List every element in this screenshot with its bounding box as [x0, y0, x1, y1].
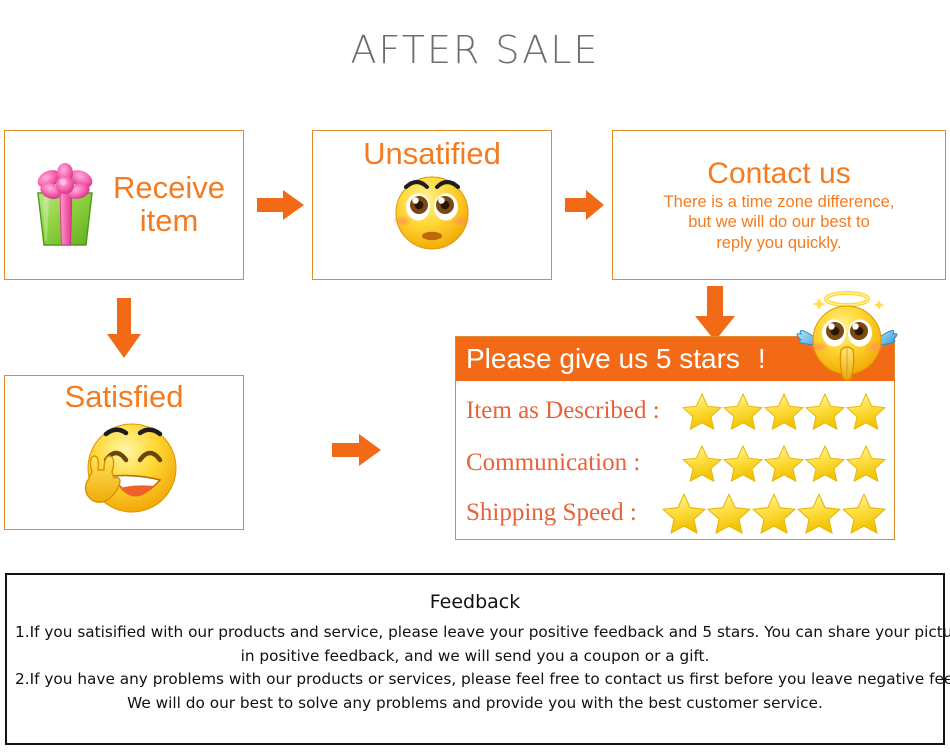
arrow-receive-to-unsatisfied — [257, 188, 305, 227]
flow-step-receive-item-label: Receive item — [113, 172, 225, 237]
flow-step-satisfied: Satisfied — [4, 375, 244, 530]
after-sale-infographic: AFTER SALE — [0, 0, 950, 754]
worried-face-emoji — [389, 167, 475, 253]
flow-step-receive-item: Receive item — [4, 130, 244, 280]
happy-face-peace-sign-emoji — [64, 414, 184, 518]
rating-row-label: Communication : — [466, 449, 640, 477]
rating-row-communication: Communication : — [466, 439, 886, 487]
feedback-line-1: 1.If you satisified with our products an… — [7, 621, 943, 645]
feedback-line-4: We will do our best to solve any problem… — [7, 692, 943, 716]
feedback-note-box: Feedback 1.If you satisified with our pr… — [5, 573, 945, 745]
arrow-satisfied-to-rating — [332, 432, 382, 473]
arrow-receive-to-satisfied — [104, 298, 144, 365]
angel-praying-emoji — [795, 288, 899, 384]
page-title: AFTER SALE — [0, 28, 950, 72]
feedback-line-2: in positive feedback, and we will send y… — [7, 645, 943, 669]
arrow-unsatisfied-to-contact — [565, 188, 605, 227]
star-rating-communication — [682, 444, 886, 482]
flow-step-contact-us: Contact us There is a time zone differen… — [612, 130, 946, 280]
rating-row-label: Shipping Speed : — [466, 499, 637, 527]
feedback-title: Feedback — [7, 591, 943, 613]
star-rating-item-as-described — [682, 392, 886, 430]
star-rating-shipping-speed — [662, 492, 886, 534]
rating-row-item-as-described: Item as Described : — [466, 387, 886, 435]
flow-step-unsatisfied: Unsatified — [312, 130, 552, 280]
rating-banner-text: Please give us 5 stars — [466, 343, 740, 375]
rating-row-label: Item as Described : — [466, 397, 660, 425]
flow-step-satisfied-label: Satisfied — [65, 380, 184, 414]
rating-row-shipping-speed: Shipping Speed : — [466, 489, 886, 537]
feedback-line-3: 2.If you have any problems with our prod… — [7, 668, 943, 692]
flow-step-contact-us-label: Contact us — [707, 157, 850, 190]
rating-banner-exclamation: ! — [758, 343, 766, 375]
flow-step-unsatisfied-label: Unsatified — [363, 137, 501, 171]
flow-step-contact-us-message: There is a time zone difference, but we … — [664, 192, 895, 254]
gift-box-icon — [29, 163, 101, 247]
